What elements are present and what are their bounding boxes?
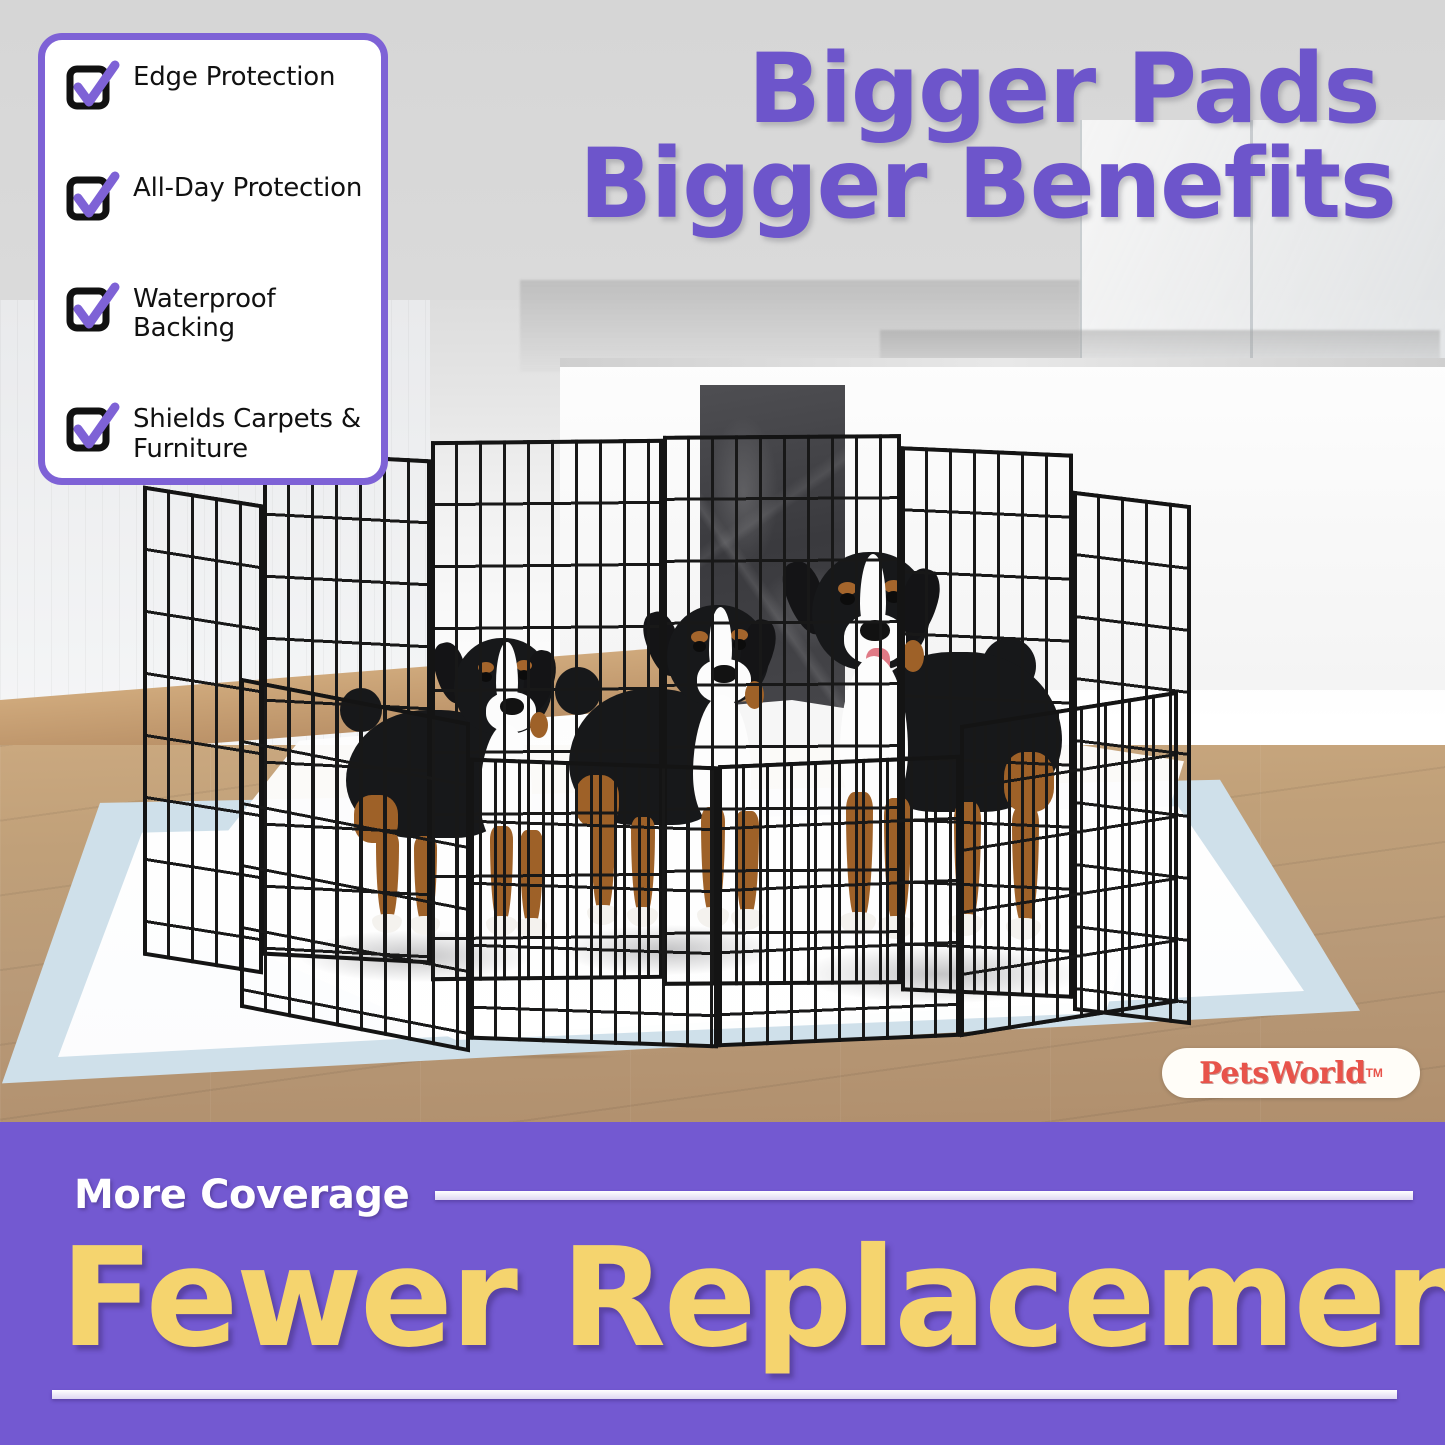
dog-right-paw-fl (840, 912, 876, 935)
feature-label: All-Day Protection (133, 173, 362, 203)
dog-left-paw-fl (486, 916, 517, 936)
feature-item-waterproof-backing: Waterproof Backing (61, 284, 365, 344)
main-headline: Bigger Pads Bigger Benefits (579, 42, 1379, 232)
banner-divider-rule-bottom (52, 1390, 1397, 1399)
checkbox-check-icon (67, 406, 119, 454)
brand-logo-trademark: TM (1366, 1066, 1383, 1080)
feature-item-edge-protection: Edge Protection (61, 62, 365, 112)
dog-middle-eye-r (733, 639, 746, 650)
dog-middle-nose (711, 665, 737, 683)
dog-middle-leg-br (631, 817, 655, 913)
dog-middle-paw-fr (731, 909, 763, 930)
dog-left-leg-fr (520, 830, 543, 924)
dog-right-paw-bl (948, 914, 983, 936)
dog-middle-eye-l (693, 641, 706, 652)
dog-left-paw-fr (516, 918, 547, 938)
kitchen-island-countertop (560, 358, 1445, 367)
dog-right-eye-l (840, 593, 855, 605)
dog-right-cheek-tan (902, 640, 924, 672)
dog-left-leg-bl (376, 832, 399, 920)
feature-label: Shields Carpets & Furniture (133, 404, 365, 464)
feature-item-shields-carpets-furniture: Shields Carpets & Furniture (61, 404, 365, 464)
dog-middle-paw-bl (587, 905, 618, 925)
dog-left-paw-bl (372, 914, 402, 933)
checkbox-check-icon (67, 64, 119, 112)
dog-right-nose (860, 620, 890, 641)
dog-right-leg-br (1012, 806, 1039, 922)
dog-left-nose (500, 698, 524, 715)
product-image-canvas: PetsWorldTM Bigger Pads Bigger Benefits … (0, 0, 1445, 1445)
dog-right-paw-br (1006, 918, 1041, 940)
dog-middle-leg-fr (735, 811, 759, 915)
feature-card: Edge Protection All-Day Protection Water… (38, 33, 388, 485)
checkbox-check-icon (67, 175, 119, 223)
dog-left-leg-br (414, 836, 437, 922)
dog-middle-leg-fl (701, 807, 725, 913)
feature-label: Edge Protection (133, 62, 335, 92)
checkbox-check-icon (67, 286, 119, 334)
dog-left-leg-fl (490, 826, 513, 922)
dog-right-leg-fr (884, 798, 911, 922)
headline-line-2: Bigger Benefits (579, 137, 1379, 232)
feature-label: Waterproof Backing (133, 284, 365, 344)
banner-divider-rule-top (435, 1191, 1413, 1200)
dog-right-leg-fl (846, 792, 873, 918)
headline-line-1: Bigger Pads (579, 42, 1379, 137)
dog-left (320, 620, 580, 960)
brand-logo-text: PetsWorld (1199, 1056, 1366, 1091)
dog-left-eye-l (480, 672, 492, 682)
dog-middle-paw-fl (697, 907, 729, 928)
dog-left-eye-r (518, 670, 530, 680)
dog-right-leg-bl (954, 802, 981, 920)
feature-item-all-day-protection: All-Day Protection (61, 173, 365, 223)
dog-middle-leg-bl (591, 813, 615, 911)
dog-right-eye-r (886, 591, 901, 603)
dog-middle-chest (693, 695, 751, 827)
dog-right-paw-fr (878, 916, 914, 939)
dog-left-paw-br (410, 916, 440, 935)
banner-eyebrow-row: More Coverage (74, 1172, 1413, 1218)
brand-logo: PetsWorldTM (1162, 1048, 1420, 1098)
banner-eyebrow-text: More Coverage (74, 1172, 409, 1218)
dog-right-haunch-tan (1004, 752, 1054, 812)
dog-right (760, 530, 1090, 970)
dog-middle-paw-br (627, 907, 658, 927)
banner-headline: Fewer Replacements (60, 1230, 1405, 1367)
